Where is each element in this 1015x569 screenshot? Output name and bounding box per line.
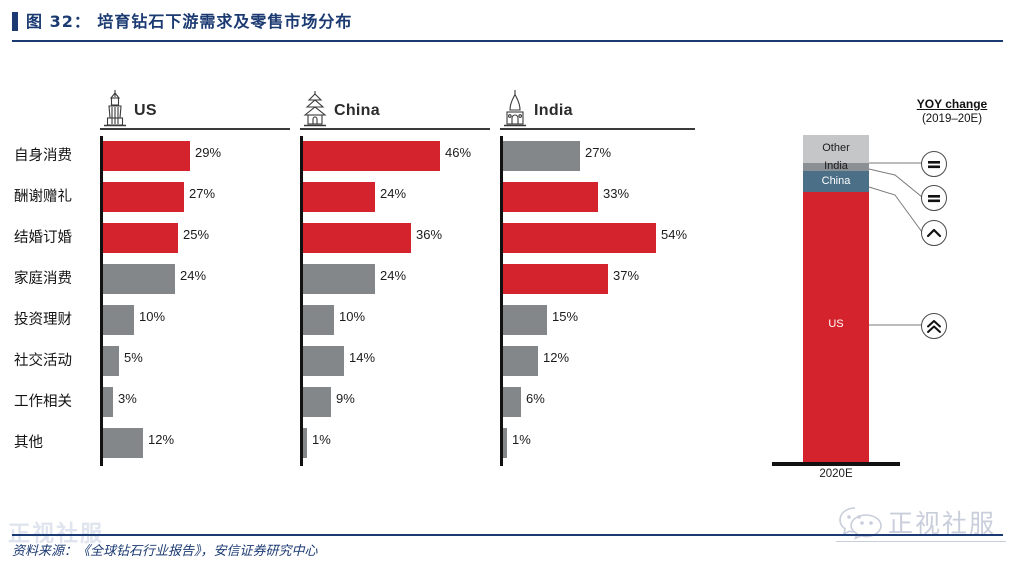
- category-label: 工作相关: [14, 382, 100, 423]
- bar-india-7: [503, 428, 507, 458]
- bar-value-label: 33%: [603, 186, 629, 201]
- bar-row: 54%: [503, 218, 698, 259]
- bar-value-label: 12%: [543, 350, 569, 365]
- bar-us-5: [103, 346, 119, 376]
- category-label-column: 自身消费 酬谢赠礼 结婚订婚 家庭消费 投资理财 社交活动 工作相关 其他: [14, 136, 100, 464]
- bar-us-0: [103, 141, 190, 171]
- bar-row: 1%: [303, 423, 493, 464]
- bar-china-5: [303, 346, 344, 376]
- bar-value-label: 29%: [195, 145, 221, 160]
- bar-row: 27%: [503, 136, 698, 177]
- bar-value-label: 6%: [526, 391, 545, 406]
- bar-row: 14%: [303, 341, 493, 382]
- bar-group-india: 27% 33% 54% 37% 15% 12% 6% 1%: [503, 136, 698, 464]
- bar-row: 24%: [303, 259, 493, 300]
- yoy-change-subtitle: (2019–20E): [897, 113, 1007, 125]
- bar-value-label: 15%: [552, 309, 578, 324]
- bar-value-label: 24%: [380, 268, 406, 283]
- bar-us-6: [103, 387, 113, 417]
- bar-value-label: 1%: [312, 432, 331, 447]
- bar-row: 3%: [103, 382, 293, 423]
- bar-india-3: [503, 264, 608, 294]
- panel-india: India: [500, 88, 695, 130]
- bar-row: 10%: [303, 300, 493, 341]
- equals-icon: [922, 186, 946, 210]
- bar-row: 37%: [503, 259, 698, 300]
- category-label: 结婚订婚: [14, 218, 100, 259]
- bar-china-4: [303, 305, 334, 335]
- bar-group-china: 46% 24% 36% 24% 10% 14% 9% 1%: [303, 136, 493, 464]
- bar-value-label: 1%: [512, 432, 531, 447]
- bar-row: 46%: [303, 136, 493, 177]
- panel-header-india: India: [500, 88, 695, 130]
- empire-state-building-icon: [100, 88, 130, 133]
- bar-row: 12%: [503, 341, 698, 382]
- bar-china-2: [303, 223, 411, 253]
- bar-value-label: 9%: [336, 391, 355, 406]
- bar-value-label: 36%: [416, 227, 442, 242]
- bar-value-label: 27%: [585, 145, 611, 160]
- bar-value-label: 25%: [183, 227, 209, 242]
- bar-row: 25%: [103, 218, 293, 259]
- stacked-bar-baseline: [772, 462, 900, 466]
- bar-value-label: 46%: [445, 145, 471, 160]
- bar-china-7: [303, 428, 307, 458]
- bar-us-2: [103, 223, 178, 253]
- bar-row: 9%: [303, 382, 493, 423]
- bar-row: 1%: [503, 423, 698, 464]
- source-note: 资料来源：《全球钻石行业报告》，安信证券研究中心: [12, 540, 318, 559]
- bar-india-2: [503, 223, 656, 253]
- equals-icon: [922, 152, 946, 176]
- category-label: 家庭消费: [14, 259, 100, 300]
- panel-header-us: US: [100, 88, 290, 130]
- bar-india-5: [503, 346, 538, 376]
- bar-india-6: [503, 387, 521, 417]
- bar-row: 27%: [103, 177, 293, 218]
- bar-value-label: 27%: [189, 186, 215, 201]
- bar-row: 6%: [503, 382, 698, 423]
- bar-value-label: 54%: [661, 227, 687, 242]
- bar-us-4: [103, 305, 134, 335]
- yoy-badge-us: [921, 313, 947, 339]
- panel-header-rule: [100, 128, 290, 130]
- bar-china-1: [303, 182, 375, 212]
- bar-us-3: [103, 264, 175, 294]
- panel-header-rule: [300, 128, 490, 130]
- bar-value-label: 10%: [139, 309, 165, 324]
- bar-group-us: 29% 27% 25% 24% 10% 5% 3% 12%: [103, 136, 293, 464]
- bar-value-label: 24%: [180, 268, 206, 283]
- bar-row: 5%: [103, 341, 293, 382]
- figure-title-bar: 图 32： 培育钻石下游需求及零售市场分布: [0, 8, 1015, 38]
- yoy-change-title: YOY change: [897, 97, 1007, 111]
- bar-row: 10%: [103, 300, 293, 341]
- bar-row: 36%: [303, 218, 493, 259]
- panel-label-india: India: [534, 102, 573, 120]
- yoy-badge-india: [921, 185, 947, 211]
- double-chevron-up-icon: [922, 314, 946, 338]
- category-label: 酬谢赠礼: [14, 177, 100, 218]
- category-label: 社交活动: [14, 341, 100, 382]
- bar-value-label: 37%: [613, 268, 639, 283]
- bar-value-label: 10%: [339, 309, 365, 324]
- bar-row: 15%: [503, 300, 698, 341]
- bar-value-label: 24%: [380, 186, 406, 201]
- bar-row: 33%: [503, 177, 698, 218]
- chevron-up-icon: [922, 221, 946, 245]
- category-label: 其他: [14, 423, 100, 464]
- temple-of-heaven-icon: [300, 88, 330, 133]
- panel-header-china: China: [300, 88, 490, 130]
- bar-china-6: [303, 387, 331, 417]
- title-divider: [12, 40, 1003, 42]
- bar-value-label: 5%: [124, 350, 143, 365]
- category-label: 投资理财: [14, 300, 100, 341]
- bar-row: 24%: [103, 259, 293, 300]
- panel-label-us: US: [134, 102, 157, 120]
- panel-header-rule: [500, 128, 695, 130]
- bar-value-label: 3%: [118, 391, 137, 406]
- category-label: 自身消费: [14, 136, 100, 177]
- watermark-brand-rule: [836, 541, 1006, 542]
- bar-us-7: [103, 428, 143, 458]
- bar-row: 29%: [103, 136, 293, 177]
- taj-mahal-icon: [500, 88, 530, 133]
- panel-us: US: [100, 88, 290, 130]
- bar-india-1: [503, 182, 598, 212]
- yoy-badge-china: [921, 220, 947, 246]
- bar-india-0: [503, 141, 580, 171]
- footer-divider: [12, 534, 1003, 536]
- stacked-bar-x-label: 2020E: [772, 468, 900, 480]
- bar-china-3: [303, 264, 375, 294]
- title-accent-bar: [12, 12, 18, 31]
- bar-china-0: [303, 141, 440, 171]
- watermark-brand: 正视社服: [836, 500, 1006, 544]
- bar-row: 24%: [303, 177, 493, 218]
- bar-row: 12%: [103, 423, 293, 464]
- yoy-badge-other: [921, 151, 947, 177]
- bar-value-label: 12%: [148, 432, 174, 447]
- bar-us-1: [103, 182, 184, 212]
- page-title: 图 32： 培育钻石下游需求及零售市场分布: [26, 8, 352, 32]
- panel-china: China: [300, 88, 490, 130]
- panel-label-china: China: [334, 102, 380, 120]
- bar-india-4: [503, 305, 547, 335]
- bar-value-label: 14%: [349, 350, 375, 365]
